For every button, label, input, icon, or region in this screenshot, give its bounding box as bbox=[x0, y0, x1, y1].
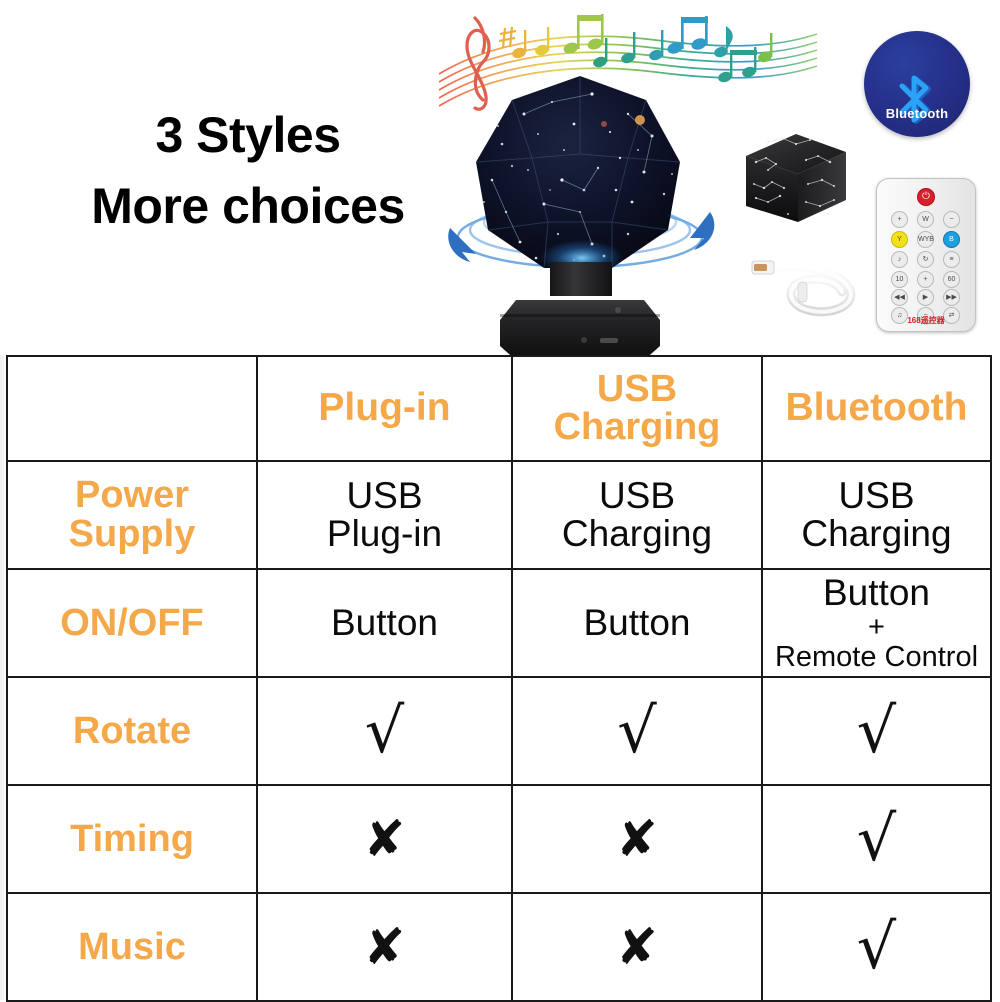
remote-key-b: B bbox=[943, 231, 960, 248]
remote-key-timer-60: 60 bbox=[943, 271, 960, 288]
value-cell-timing-usb-charging: ✘ bbox=[512, 785, 762, 893]
remote-key-music-mode: ♪ bbox=[891, 251, 908, 268]
remote-key-prev: ◀◀ bbox=[891, 289, 908, 306]
header-cell-blank bbox=[7, 356, 257, 461]
feature-label-line-1: Music bbox=[12, 928, 252, 967]
value-cell-power-supply-plug-in: USB Plug-in bbox=[257, 461, 512, 569]
header-cell-plug-in: Plug-in bbox=[257, 356, 512, 461]
remote-key-next: ▶▶ bbox=[943, 289, 960, 306]
value-cell-power-supply-bluetooth: USB Charging bbox=[762, 461, 991, 569]
value-line-3: Remote Control bbox=[767, 642, 986, 672]
feature-cell-power-supply: Power Supply bbox=[7, 461, 257, 569]
feature-label-line-2: Supply bbox=[12, 515, 252, 554]
value-cell-music-usb-charging: ✘ bbox=[512, 893, 762, 1001]
remote-brand-label: 168遥控器 bbox=[877, 315, 975, 326]
check-icon: √ bbox=[767, 808, 986, 870]
value-cell-on-off-bluetooth: Button + Remote Control bbox=[762, 569, 991, 677]
table-row-rotate: Rotate √ √ √ bbox=[7, 677, 991, 785]
header-cell-usb-charging: USB Charging bbox=[512, 356, 762, 461]
check-icon: √ bbox=[517, 700, 757, 762]
remote-key-timer-10: 10 bbox=[891, 271, 908, 288]
star-projector-lamp bbox=[432, 62, 732, 357]
value-cell-rotate-usb-charging: √ bbox=[512, 677, 762, 785]
header-cell-bluetooth: Bluetooth bbox=[762, 356, 991, 461]
feature-label-line-1: Timing bbox=[12, 820, 252, 859]
feature-label-line-1: ON/OFF bbox=[12, 604, 252, 643]
feature-label-line-1: Power bbox=[12, 476, 252, 515]
table-row-music: Music ✘ ✘ √ bbox=[7, 893, 991, 1001]
value-line-1: Button bbox=[517, 604, 757, 642]
value-cell-timing-plug-in: ✘ bbox=[257, 785, 512, 893]
table-row-timing: Timing ✘ ✘ √ bbox=[7, 785, 991, 893]
feature-cell-on-off: ON/OFF bbox=[7, 569, 257, 677]
remote-key-plus: + bbox=[891, 211, 908, 228]
feature-label-line-1: Rotate bbox=[12, 712, 252, 751]
table-row-power-supply: Power Supply USB Plug-in USB Charging US… bbox=[7, 461, 991, 569]
table-row-on-off: ON/OFF Button Button Button + Remote Con… bbox=[7, 569, 991, 677]
headline-line-1: 3 Styles bbox=[48, 100, 448, 171]
usb-charging-cable bbox=[742, 248, 867, 323]
feature-cell-music: Music bbox=[7, 893, 257, 1001]
value-line-2: + bbox=[767, 613, 986, 642]
remote-key-vol-up: + bbox=[917, 271, 934, 288]
header-usb-charging-line-1: USB bbox=[517, 371, 757, 408]
remote-power-key: ⏻ bbox=[917, 188, 935, 206]
value-cell-on-off-plug-in: Button bbox=[257, 569, 512, 677]
cross-icon: ✘ bbox=[262, 922, 507, 972]
remote-key-play: ▶ bbox=[917, 289, 934, 306]
cross-icon: ✘ bbox=[517, 814, 757, 864]
remote-key-y: Y bbox=[891, 231, 908, 248]
product-hero-banner: 3 Styles More choices bbox=[0, 0, 1000, 355]
value-line-1: USB bbox=[767, 477, 986, 515]
bluetooth-badge-label: Bluetooth bbox=[864, 106, 970, 121]
header-plug-in-line-1: Plug-in bbox=[262, 389, 507, 427]
value-line-1: Button bbox=[823, 572, 930, 613]
page-title: 3 Styles More choices bbox=[48, 100, 448, 242]
value-cell-on-off-usb-charging: Button bbox=[512, 569, 762, 677]
remote-key-rotate: ↻ bbox=[917, 251, 934, 268]
header-usb-charging-line-2: Charging bbox=[517, 409, 757, 446]
value-cell-rotate-bluetooth: √ bbox=[762, 677, 991, 785]
remote-key-wyb: WYB bbox=[917, 231, 934, 248]
value-cell-music-plug-in: ✘ bbox=[257, 893, 512, 1001]
feature-cell-timing: Timing bbox=[7, 785, 257, 893]
check-icon: √ bbox=[767, 700, 986, 762]
value-line-1: USB bbox=[517, 477, 757, 515]
remote-key-minus: − bbox=[943, 211, 960, 228]
value-cell-timing-bluetooth: √ bbox=[762, 785, 991, 893]
constellation-gift-box bbox=[738, 126, 853, 226]
check-icon: √ bbox=[262, 700, 507, 762]
value-line-1: Button bbox=[262, 604, 507, 642]
remote-key-mode: ≡ bbox=[943, 251, 960, 268]
bluetooth-icon bbox=[894, 71, 940, 134]
remote-control: ⏻ + W − Y WYB B ♪ ↻ ≡ 10 + 60 ◀◀ ▶ ▶▶ ♫ … bbox=[876, 178, 976, 332]
cross-icon: ✘ bbox=[262, 814, 507, 864]
feature-comparison-table: Plug-in USB Charging Bluetooth Power Sup… bbox=[6, 355, 992, 1002]
cross-icon: ✘ bbox=[517, 922, 757, 972]
value-cell-rotate-plug-in: √ bbox=[257, 677, 512, 785]
check-icon: √ bbox=[767, 916, 986, 978]
header-bluetooth-line-1: Bluetooth bbox=[767, 389, 986, 427]
value-line-2: Charging bbox=[767, 515, 986, 553]
value-cell-power-supply-usb-charging: USB Charging bbox=[512, 461, 762, 569]
value-line-2: Plug-in bbox=[262, 515, 507, 553]
table-header-row: Plug-in USB Charging Bluetooth bbox=[7, 356, 991, 461]
headline-line-2: More choices bbox=[48, 171, 448, 242]
feature-cell-rotate: Rotate bbox=[7, 677, 257, 785]
value-line-2: Charging bbox=[517, 515, 757, 553]
value-line-1: USB bbox=[262, 477, 507, 515]
bluetooth-badge: Bluetooth bbox=[864, 31, 970, 137]
value-cell-music-bluetooth: √ bbox=[762, 893, 991, 1001]
remote-key-w: W bbox=[917, 211, 934, 228]
